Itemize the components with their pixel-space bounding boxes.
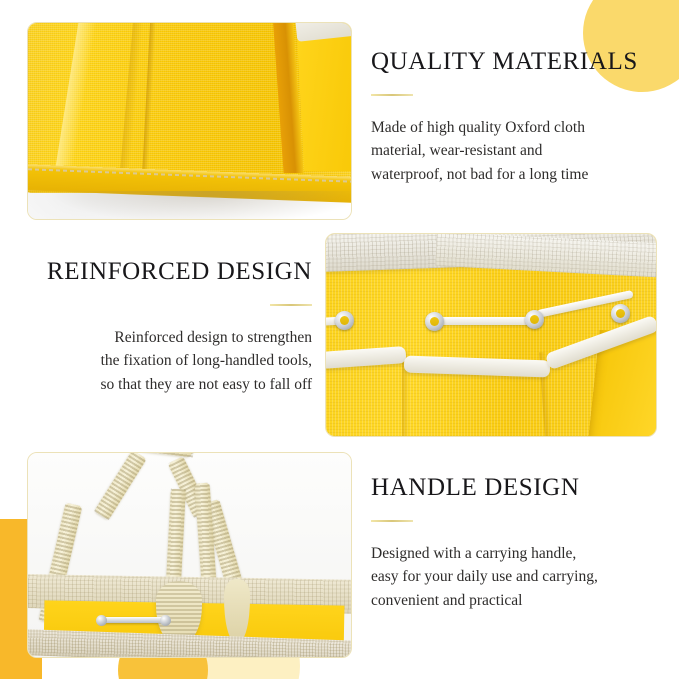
feature-body-line: convenient and practical [371,589,598,613]
product-photo-handle-design [27,452,352,658]
feature-heading-quality-materials: QUALITY MATERIALS [371,48,638,76]
feature-body-line: waterproof, not bad for a long time [371,163,638,187]
feature-body-line: material, wear-resistant and [371,139,638,163]
feature-body-line: Reinforced design to strengthen [0,326,312,350]
grommet-icon [425,312,444,331]
feature-block-handle-design: HANDLE DESIGN Designed with a carrying h… [371,474,598,612]
infographic-canvas: QUALITY MATERIALS Made of high quality O… [0,0,679,679]
grommet-icon [335,311,354,330]
feature-block-reinforced-design: REINFORCED DESIGN Reinforced design to s… [0,258,312,396]
feature-heading-reinforced-design: REINFORCED DESIGN [0,258,312,286]
feature-body-quality-materials: Made of high quality Oxford cloth materi… [371,116,638,187]
grommet-icon [611,304,630,323]
feature-divider [371,520,413,522]
feature-body-line: the fixation of long-handled tools, [0,349,312,373]
product-photo-quality-materials [27,22,352,220]
feature-divider [371,94,413,96]
feature-divider [270,304,312,306]
feature-block-quality-materials: QUALITY MATERIALS Made of high quality O… [371,48,638,186]
feature-body-line: so that they are not easy to fall off [0,373,312,397]
feature-body-line: easy for your daily use and carrying, [371,565,598,589]
feature-body-line: Made of high quality Oxford cloth [371,116,638,140]
product-photo-reinforced-design [325,233,657,437]
feature-body-line: Designed with a carrying handle, [371,542,598,566]
grommet-icon [525,310,544,329]
feature-body-handle-design: Designed with a carrying handle, easy fo… [371,542,598,613]
feature-heading-handle-design: HANDLE DESIGN [371,474,598,502]
feature-body-reinforced-design: Reinforced design to strengthen the fixa… [0,326,312,397]
